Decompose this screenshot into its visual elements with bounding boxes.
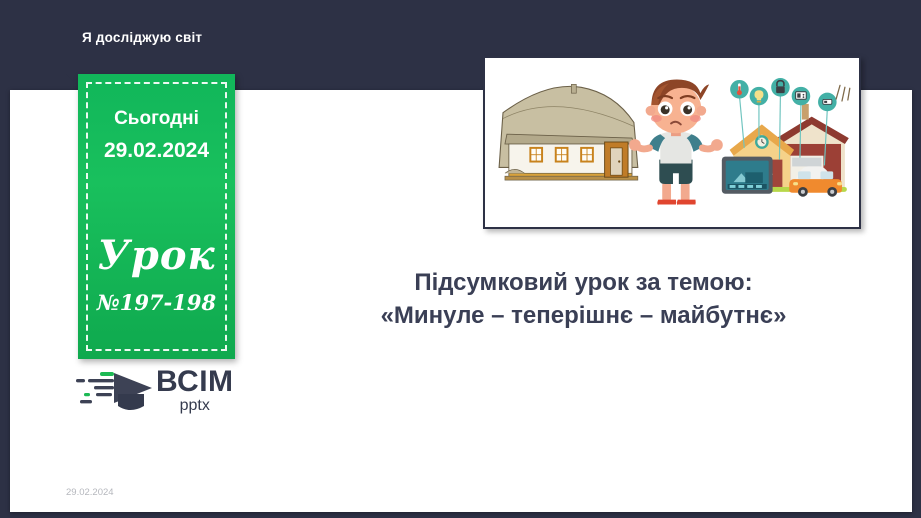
title-line-2: «Минуле – теперішнє – майбутнє» (285, 299, 882, 332)
vsim-pptx-logo: ВСІМ pptx (74, 364, 244, 416)
logo-text-group: ВСІМ pptx (156, 367, 234, 414)
course-label: Я досліджую світ (82, 30, 202, 45)
date-card-dashed-border: Сьогодні 29.02.2024 Урок №197-198 (86, 82, 227, 351)
lesson-number: №197-198 (88, 290, 225, 315)
logo-brand: ВСІМ (156, 367, 234, 397)
illustration-frame (483, 56, 861, 229)
title-line-1: Підсумковий урок за темою: (285, 266, 882, 299)
footer-date: 29.02.2024 (66, 487, 114, 498)
page-title: Підсумковий урок за темою: «Минуле – теп… (285, 266, 882, 332)
date-lesson-card: Сьогодні 29.02.2024 Урок №197-198 (78, 74, 235, 359)
logo-subtitle: pptx (156, 398, 234, 414)
today-date: 29.02.2024 (88, 139, 225, 163)
slide-root: Я досліджую світ Сьогодні 29.02.2024 Уро… (0, 0, 921, 518)
past-present-future-illustration (485, 58, 859, 227)
today-label: Сьогодні (88, 108, 225, 130)
graduation-cap-icon (74, 366, 154, 414)
lesson-word: Урок (88, 232, 225, 279)
